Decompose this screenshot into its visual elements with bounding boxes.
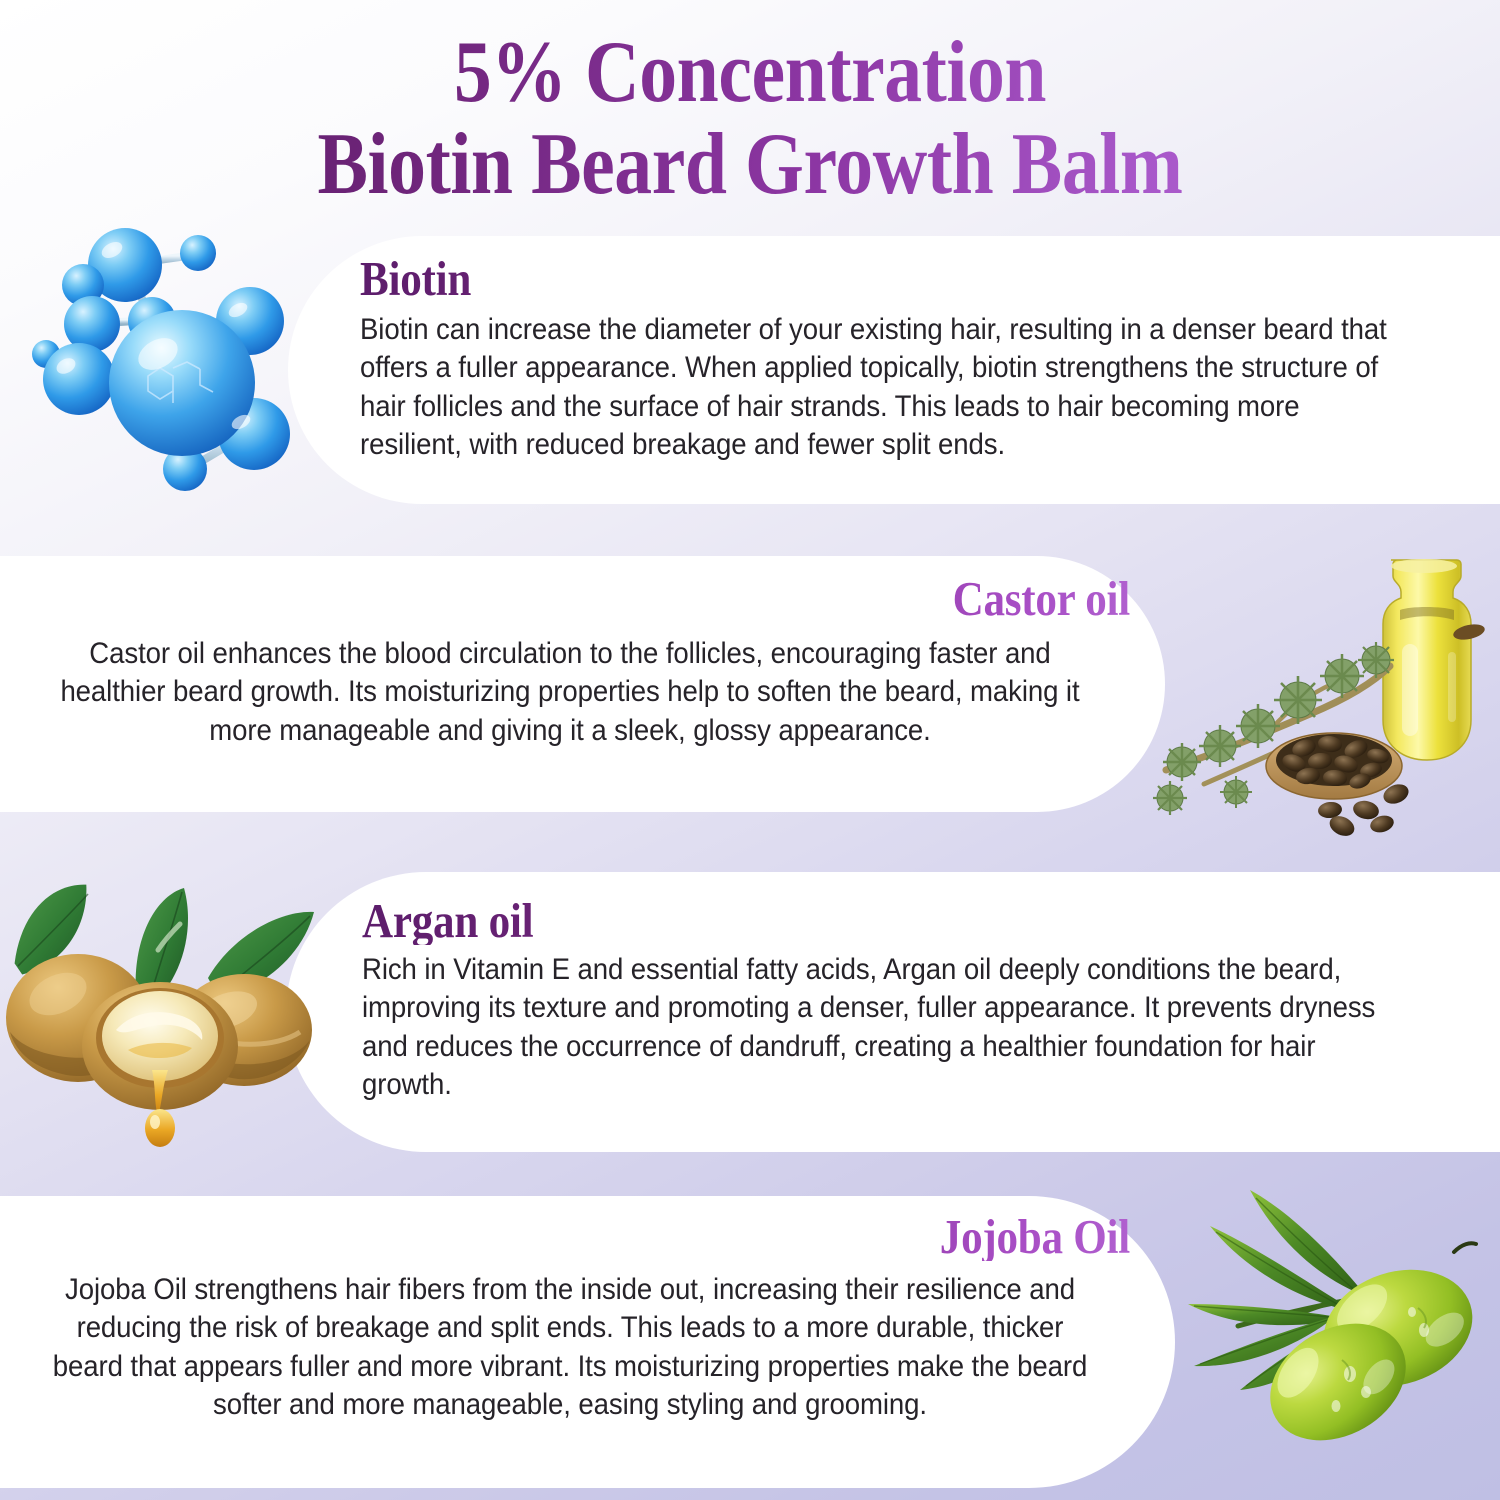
ingredient-heading-biotin: Biotin bbox=[360, 254, 1344, 303]
ingredient-body-biotin: Biotin can increase the diameter of your… bbox=[360, 311, 1405, 464]
ingredient-content-castor-oil: Castor oil Castor oil enhances the blood… bbox=[10, 574, 1130, 750]
title-line-2: Biotin Beard Growth Balm bbox=[105, 120, 1395, 210]
castor-plant-and-oil-bottle-illustration bbox=[1152, 548, 1500, 844]
argan-nuts-illustration bbox=[0, 866, 326, 1154]
ingredient-body-jojoba-oil: Jojoba Oil strengthens hair fibers from … bbox=[46, 1271, 1093, 1424]
infographic-poster: 5% Concentration Biotin Beard Growth Bal… bbox=[0, 0, 1500, 1500]
ingredient-content-biotin: Biotin Biotin can increase the diameter … bbox=[360, 254, 1478, 464]
ingredient-body-castor-oil: Castor oil enhances the blood circulatio… bbox=[46, 635, 1093, 750]
ingredient-heading-argan-oil: Argan oil bbox=[362, 896, 1341, 945]
page-title: 5% Concentration Biotin Beard Growth Bal… bbox=[0, 28, 1500, 210]
ingredient-heading-castor-oil: Castor oil bbox=[144, 574, 1130, 623]
molecule-illustration bbox=[22, 228, 312, 500]
ingredient-body-argan-oil: Rich in Vitamin E and essential fatty ac… bbox=[362, 951, 1402, 1104]
ingredient-content-jojoba-oil: Jojoba Oil Jojoba Oil strengthens hair f… bbox=[10, 1212, 1130, 1424]
jojoba-olives-illustration bbox=[1180, 1178, 1500, 1472]
ingredient-heading-jojoba-oil: Jojoba Oil bbox=[144, 1212, 1130, 1261]
title-line-1: 5% Concentration bbox=[105, 28, 1395, 118]
ingredient-content-argan-oil: Argan oil Rich in Vitamin E and essentia… bbox=[362, 896, 1474, 1104]
